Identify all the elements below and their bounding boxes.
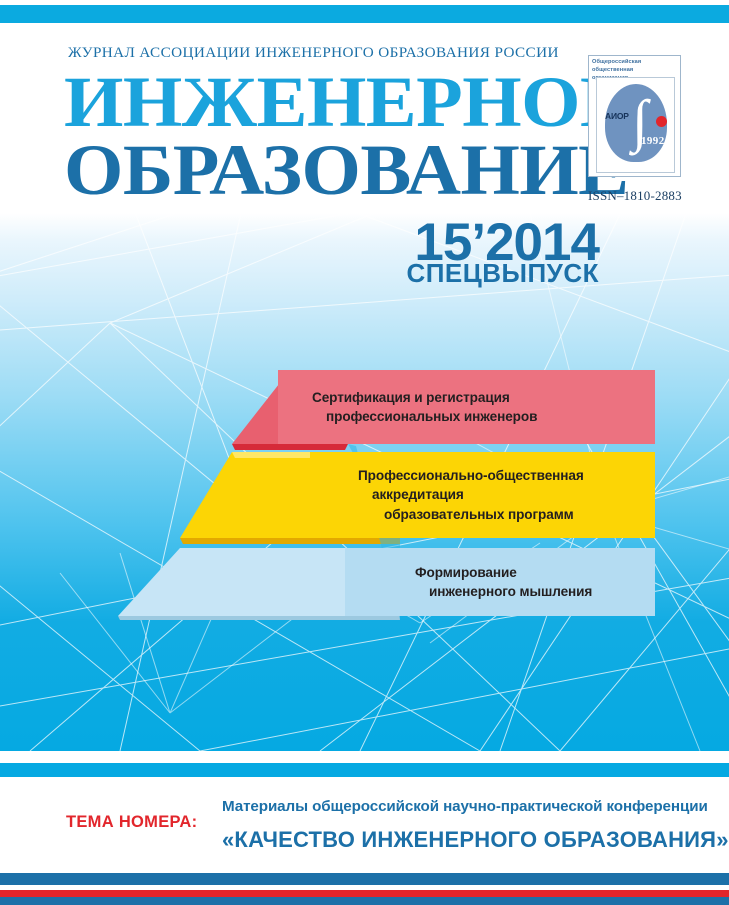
pyramid-diagram: Сертификация и регистрация профессиональ… (0, 0, 729, 905)
theme-label: ТЕМА НОМЕРА: (66, 813, 197, 832)
pyramid-band-accreditation: Профессионально-общественная аккредитаци… (310, 452, 655, 538)
band-line: Сертификация и регистрация (312, 388, 689, 407)
pyramid-band-certification-text: Сертификация и регистрация профессиональ… (278, 370, 689, 444)
pyramid-middle-shadow (180, 538, 400, 544)
band-line: аккредитация (358, 485, 703, 504)
band-line: профессиональных инженеров (312, 407, 689, 426)
band-line: образовательных программ (358, 505, 703, 524)
conference-subtitle: Материалы общероссийской научно-практиче… (222, 798, 708, 815)
band-line: Профессионально-общественная (358, 466, 703, 485)
pyramid-band-accreditation-text: Профессионально-общественная аккредитаци… (310, 452, 703, 538)
footer-rule-red (0, 890, 729, 897)
pyramid-base-shadow (118, 616, 400, 620)
magazine-cover: ЖУРНАЛ АССОЦИАЦИИ ИНЖЕНЕРНОГО ОБРАЗОВАНИ… (0, 0, 729, 905)
footer-rule-blue-top (0, 873, 729, 885)
pyramid-band-thinking-text: Формирование инженерного мышления (345, 548, 725, 616)
band-line: инженерного мышления (415, 582, 725, 601)
issue-special-label: СПЕЦВЫПУСК (406, 258, 599, 289)
pyramid-band-certification: Сертификация и регистрация профессиональ… (278, 370, 655, 444)
pyramid-band-thinking: Формирование инженерного мышления (345, 548, 655, 616)
band-line: Формирование (415, 563, 725, 582)
footer-rule-blue-bottom (0, 897, 729, 905)
conference-title: «КАЧЕСТВО ИНЖЕНЕРНОГО ОБРАЗОВАНИЯ» (222, 827, 729, 853)
pyramid-apex-shadow (232, 444, 348, 450)
